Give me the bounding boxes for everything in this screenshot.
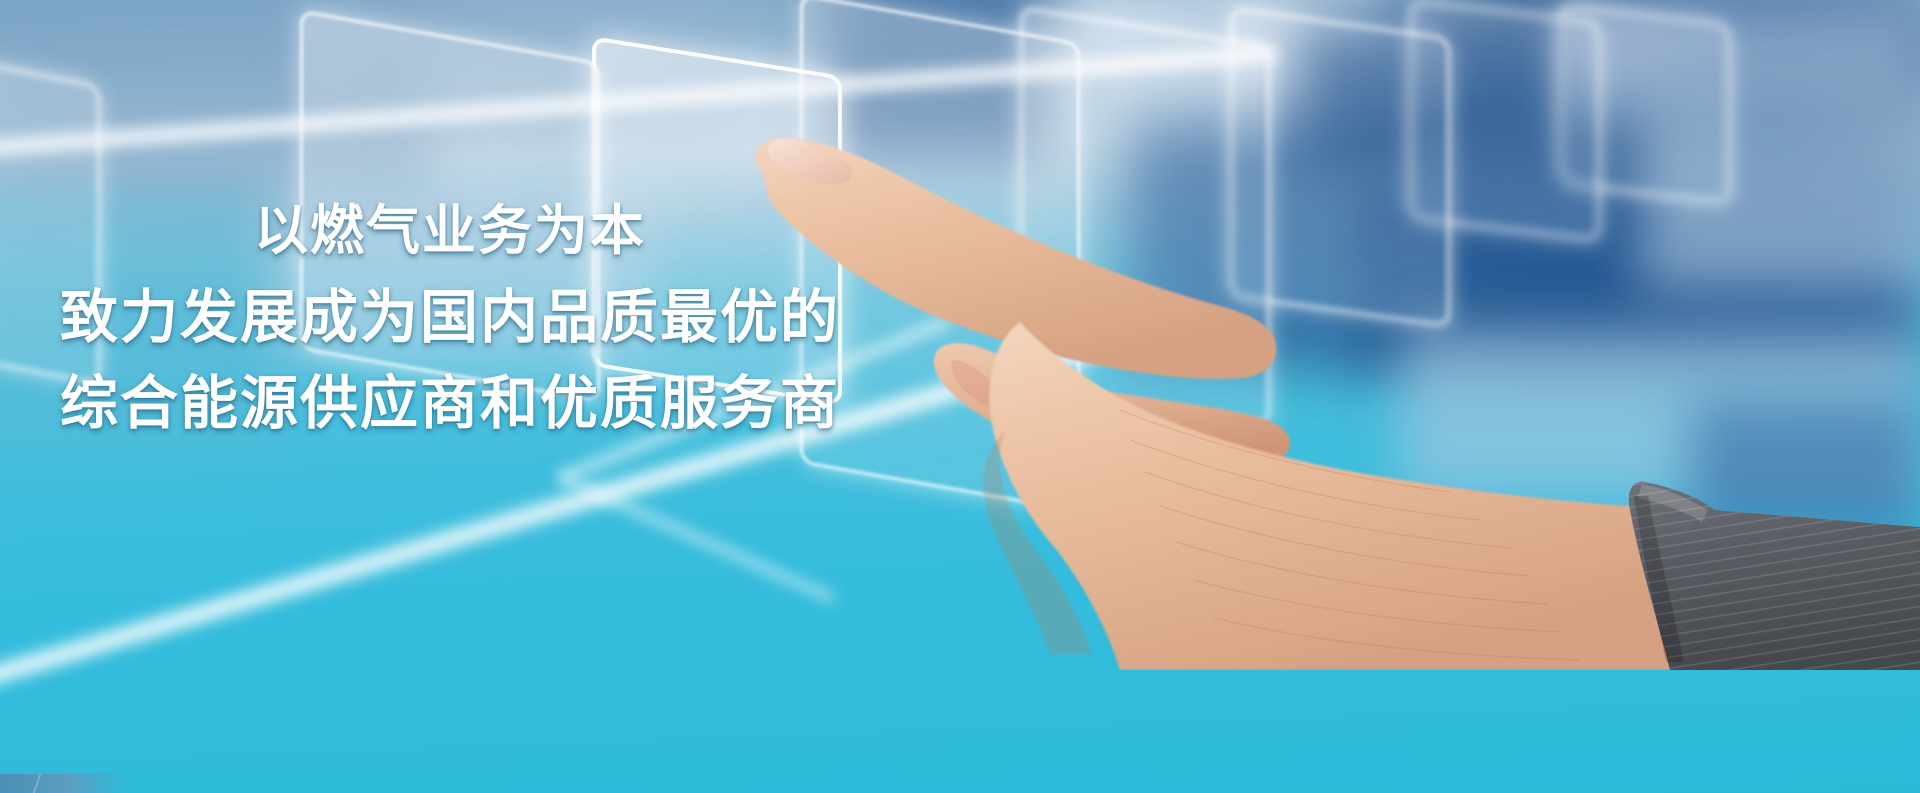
headline-line-3: 综合能源供应商和优质服务商 [0, 364, 900, 442]
headline-line-2: 致力发展成为国内品质最优的 [0, 278, 900, 356]
headline-line-1: 以燃气业务为本 [0, 196, 900, 266]
hero-banner: 以燃气业务为本 致力发展成为国内品质最优的 综合能源供应商和优质服务商 [0, 0, 1920, 793]
bottom-accent-bar [0, 774, 126, 793]
headline-block: 以燃气业务为本 致力发展成为国内品质最优的 综合能源供应商和优质服务商 [0, 196, 900, 442]
